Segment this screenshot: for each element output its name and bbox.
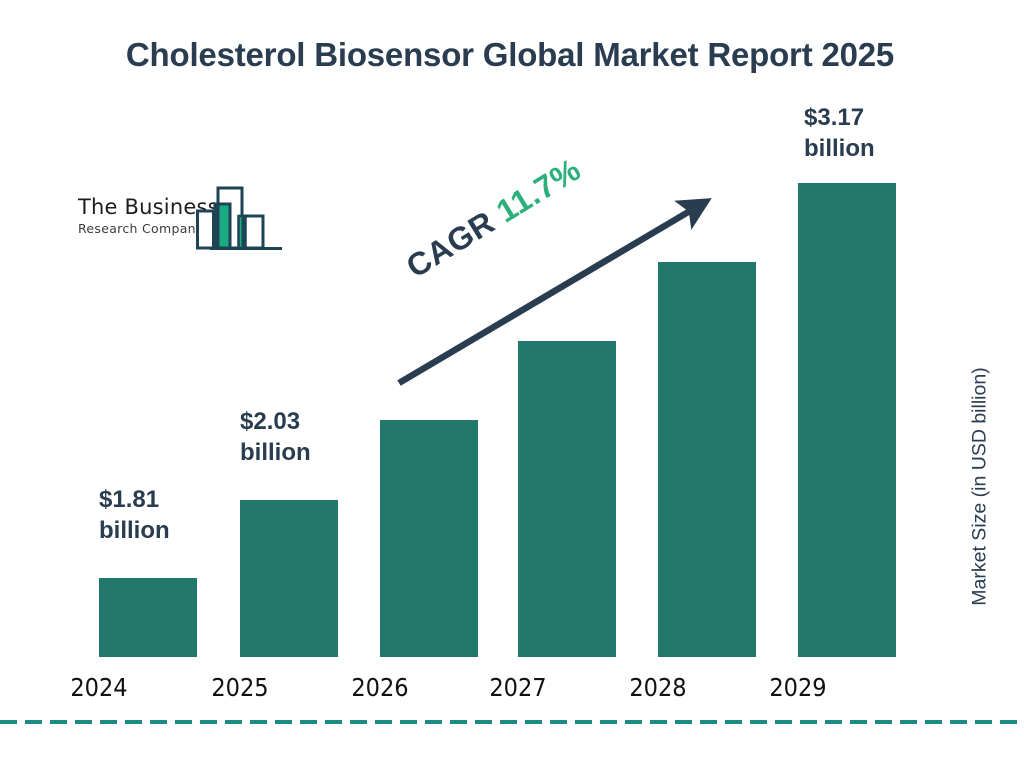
y-axis-title: Market Size (in USD billion) bbox=[969, 307, 992, 667]
footer-divider bbox=[0, 720, 1024, 724]
growth-trend-arrow bbox=[0, 0, 1024, 768]
chart-canvas: Cholesterol Biosensor Global Market Repo… bbox=[0, 0, 1024, 768]
